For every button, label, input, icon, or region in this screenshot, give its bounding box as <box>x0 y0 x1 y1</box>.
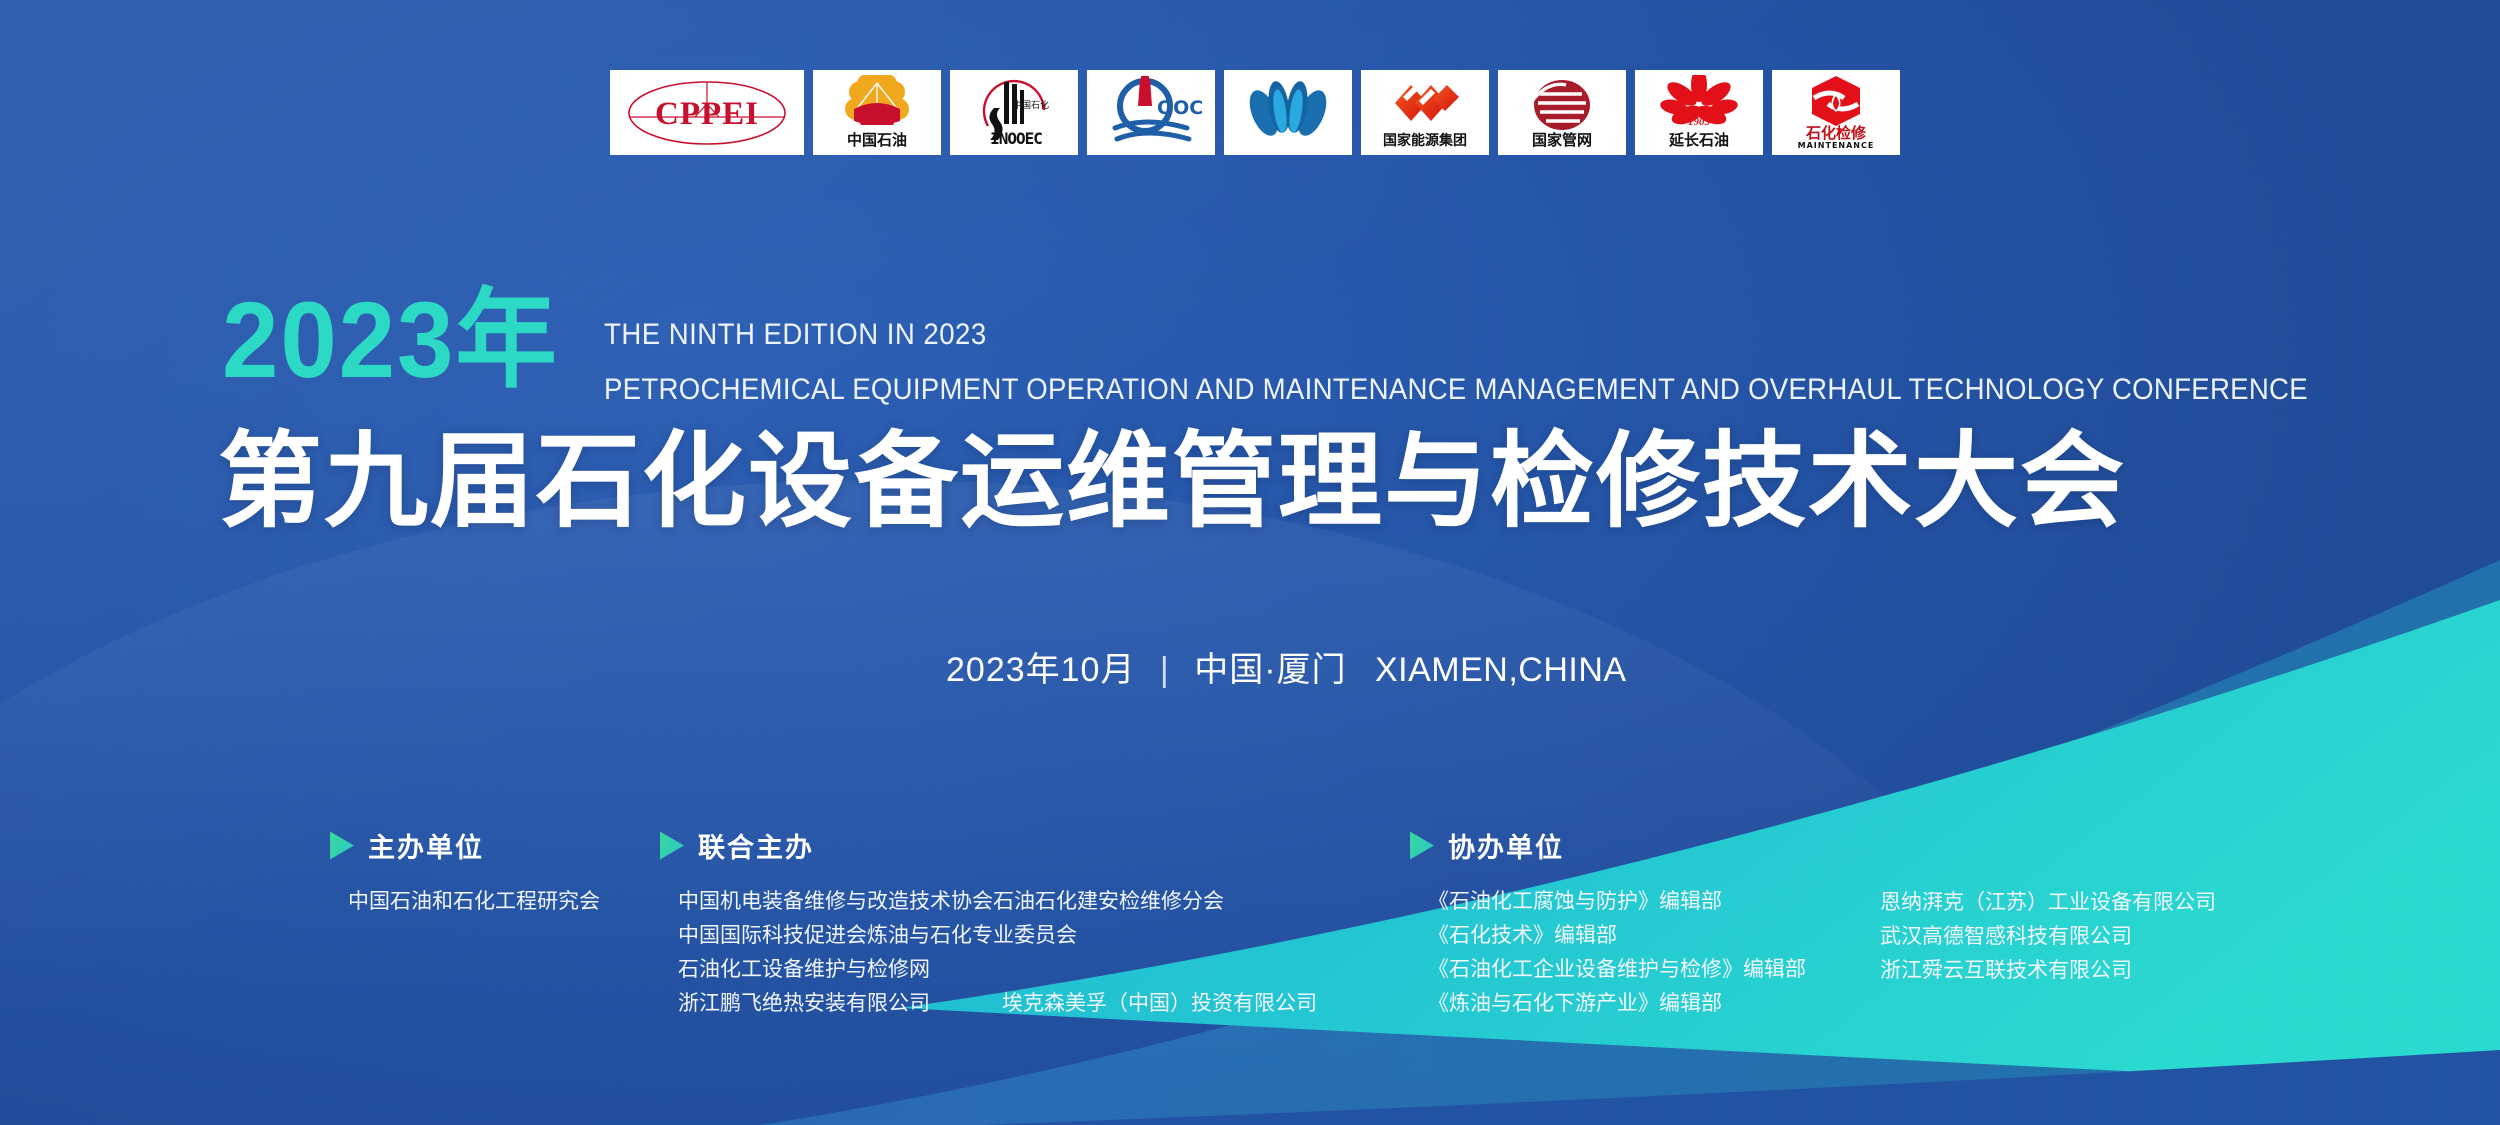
list-item: 埃克森美孚（中国）投资有限公司 <box>1002 987 1317 1021</box>
sponsor-column-co-host-extra: 恩纳湃克（江苏）工业设备有限公司 武汉高德智感科技有限公司 浙江舜云互联技术有限… <box>1862 886 2216 988</box>
sponsor-heading-label: 主办单位 <box>368 826 484 865</box>
sponsor-heading-label: 联合主办 <box>698 826 814 865</box>
list-item: 石油化工设备维护与检修网 <box>678 953 1317 987</box>
sponsor-heading-label: 协办单位 <box>1448 826 1564 865</box>
list-item: 浙江舜云互联技术有限公司 <box>1880 954 2216 988</box>
sponsor-heading-co-host: 协办单位 <box>1410 826 1806 865</box>
list-item: 浙江鹏飞绝热安装有限公司 <box>678 987 930 1021</box>
sponsor-column-co-host: 协办单位 《石油化工腐蚀与防护》编辑部 《石化技术》编辑部 《石油化工企业设备维… <box>1410 826 1806 1021</box>
sponsor-column-joint-host: 联合主办 中国机电装备维修与改造技术协会石油石化建安检维修分会 中国国际科技促进… <box>660 826 1317 1021</box>
sponsor-heading-host: 主办单位 <box>330 826 600 865</box>
joint-host-last-row: 浙江鹏飞绝热安装有限公司 埃克森美孚（中国）投资有限公司 <box>678 987 1317 1021</box>
list-item: 《石油化工腐蚀与防护》编辑部 <box>1428 885 1806 919</box>
triangle-marker-icon <box>1410 832 1434 860</box>
list-item: 《炼油与石化下游产业》编辑部 <box>1428 987 1806 1021</box>
triangle-marker-icon <box>660 832 684 860</box>
list-item: 中国国际科技促进会炼油与石化专业委员会 <box>678 919 1317 953</box>
list-item: 中国石油和石化工程研究会 <box>348 885 600 919</box>
sponsor-list-co-host: 《石油化工腐蚀与防护》编辑部 《石化技术》编辑部 《石油化工企业设备维护与检修》… <box>1410 885 1806 1021</box>
sponsor-list-host: 中国石油和石化工程研究会 <box>330 885 600 919</box>
sponsor-list-co-host-extra: 恩纳湃克（江苏）工业设备有限公司 武汉高德智感科技有限公司 浙江舜云互联技术有限… <box>1862 886 2216 988</box>
sponsor-column-host: 主办单位 中国石油和石化工程研究会 <box>330 826 600 919</box>
list-item: 《石化技术》编辑部 <box>1428 919 1806 953</box>
conference-banner: CPPEI <box>0 0 2500 1125</box>
sponsor-heading-joint-host: 联合主办 <box>660 826 1317 865</box>
list-item: 武汉高德智感科技有限公司 <box>1880 920 2216 954</box>
sponsor-list-joint-host: 中国机电装备维修与改造技术协会石油石化建安检维修分会 中国国际科技促进会炼油与石… <box>660 885 1317 1021</box>
list-item: 恩纳湃克（江苏）工业设备有限公司 <box>1880 886 2216 920</box>
sponsors-section: 主办单位 中国石油和石化工程研究会 联合主办 中国机电装备维修与改造技术协会石油… <box>0 0 2500 1125</box>
list-item: 中国机电装备维修与改造技术协会石油石化建安检维修分会 <box>678 885 1317 919</box>
list-item: 《石油化工企业设备维护与检修》编辑部 <box>1428 953 1806 987</box>
triangle-marker-icon <box>330 832 354 860</box>
